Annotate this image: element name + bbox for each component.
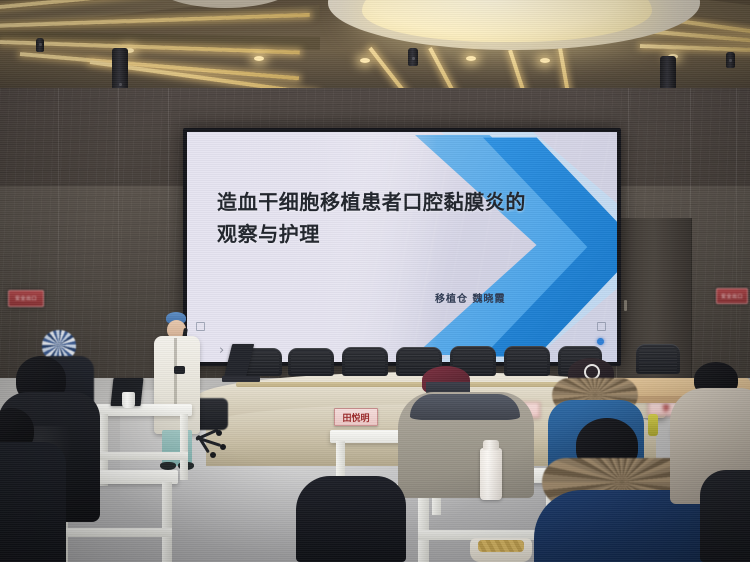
- chair-backrest: [504, 346, 550, 376]
- ceiling-speaker-mid: [408, 48, 418, 66]
- desk-shelf: [58, 528, 172, 537]
- wall-seam: [118, 88, 119, 388]
- presenter-lab-coat: [154, 336, 200, 434]
- name-placard-label: 田悦明: [342, 411, 369, 424]
- chair-backrest: [636, 344, 680, 374]
- audience-body: [296, 476, 406, 562]
- laptop-keyboard[interactable]: [222, 376, 260, 382]
- name-placard-label: 李: [662, 403, 670, 414]
- audience-body: [700, 470, 750, 562]
- exit-sign-right-label: 安全出口: [721, 293, 743, 300]
- projection-screen: 造血干细胞移植患者口腔黏膜炎的 观察与护理 移植仓 魏晓霞 ›: [187, 132, 617, 362]
- lab-coat-lapel: [174, 338, 177, 410]
- chair-caster: [210, 452, 216, 458]
- chair-mesh: [639, 346, 677, 372]
- chair-mesh: [345, 349, 385, 374]
- slide-title-line1: 造血干细胞移植患者口腔黏膜炎的: [217, 190, 547, 216]
- ceiling-spot: [254, 56, 264, 61]
- screen-corner-icon[interactable]: [597, 322, 606, 331]
- thermos-cap: [483, 440, 499, 450]
- paper-cup: [122, 392, 135, 408]
- slide-next-arrow-icon[interactable]: ›: [219, 344, 224, 357]
- desk-leg: [162, 482, 172, 562]
- slide-title-line2: 观察与护理: [217, 222, 547, 248]
- exit-sign-right: 安全出口: [716, 288, 748, 304]
- chair-mesh: [507, 348, 547, 374]
- screen-corner-icon[interactable]: [196, 322, 205, 331]
- exit-sign-left-label: 安全出口: [15, 295, 37, 302]
- ceiling-speaker-left: [112, 48, 128, 92]
- desk-shelf: [100, 452, 188, 460]
- presenter-phone: [174, 366, 185, 374]
- exit-sign-left: 安全出口: [8, 290, 44, 307]
- snack-contents: [478, 540, 524, 552]
- chair-backrest: [288, 348, 334, 376]
- ceiling-spot: [540, 58, 550, 63]
- chair-caster: [220, 444, 226, 450]
- ceiling-spot: [360, 58, 370, 63]
- slide-presenter: 移植仓 魏晓霞: [435, 290, 505, 305]
- ceiling-spot: [466, 56, 476, 61]
- ceiling-speaker-right: [726, 52, 735, 68]
- screen-status-dot: [597, 338, 604, 345]
- wall-seam: [736, 88, 737, 388]
- presenter-shoe: [160, 462, 176, 470]
- chair-caster: [216, 430, 222, 436]
- yellow-item: [648, 414, 658, 436]
- ceiling-speaker-left: [36, 38, 44, 52]
- thermos-bottle: [480, 448, 502, 500]
- name-placard: 田悦明: [334, 408, 378, 426]
- coat-hood: [410, 394, 520, 420]
- door-handle[interactable]: [624, 300, 627, 311]
- audience-body: [0, 442, 66, 562]
- chair-backrest: [342, 347, 388, 376]
- conference-table-wood-strip: [236, 382, 566, 387]
- chair-mesh: [291, 350, 331, 374]
- lecture-hall-photo: 安全出口 安全出口 造血干细胞移植患者口腔黏膜炎的 观察与护理 移植仓 魏晓霞 …: [0, 0, 750, 562]
- desk-leg: [180, 414, 188, 480]
